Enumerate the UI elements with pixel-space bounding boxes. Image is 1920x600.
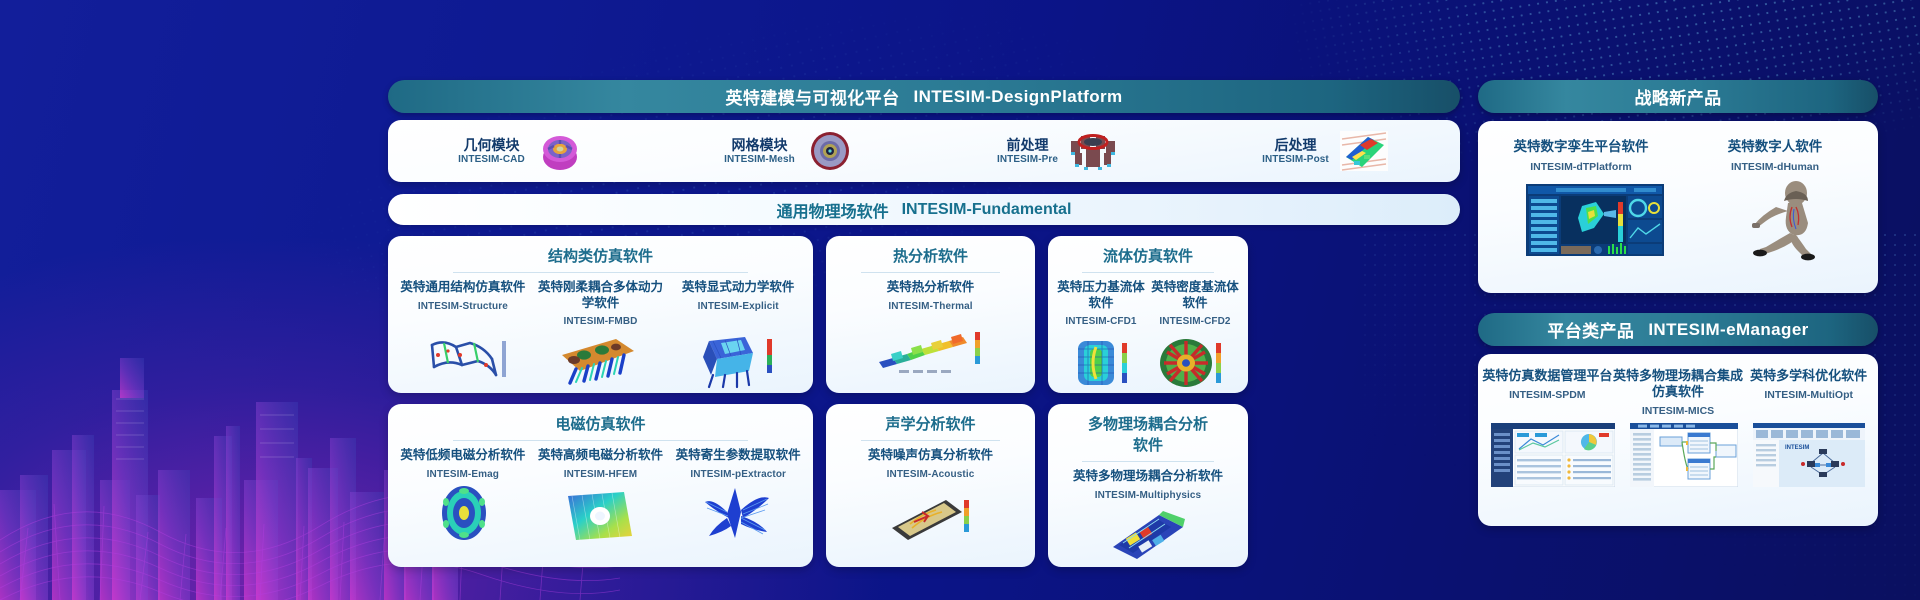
product-acoustic[interactable]: 英特噪声仿真分析软件 INTESIM-Acoustic (834, 448, 1027, 480)
product-cfd1[interactable]: 英特压力基流体软件 INTESIM-CFD1 (1056, 280, 1146, 327)
product-emag[interactable]: 英特低频电磁分析软件 INTESIM-Emag (396, 448, 530, 480)
fundamental-row-1: 结构类仿真软件 英特通用结构仿真软件 INTESIM-Structure 英特刚… (388, 236, 1460, 393)
product-fmbd-cn: 英特刚柔耦合多体动力学软件 (534, 280, 668, 311)
platform-products-card: 英特仿真数据管理平台 INTESIM-SPDM 英特多物理场耦合集成仿真软件 I… (1478, 354, 1878, 526)
fundamental-banner-cn: 通用物理场软件 (777, 198, 889, 222)
module-mesh-en: INTESIM-Mesh (724, 154, 795, 165)
product-cfd1-cn: 英特压力基流体软件 (1056, 280, 1146, 311)
product-multiopt-cn: 英特多学科优化软件 (1743, 368, 1874, 384)
design-platform-banner-cn: 英特建模与可视化平台 (725, 84, 899, 109)
hfem-lens-thumb (562, 490, 638, 542)
module-pre-cn: 前处理 (997, 137, 1058, 155)
product-fmbd[interactable]: 英特刚柔耦合多体动力学软件 INTESIM-FMBD (534, 280, 668, 327)
module-mesh-cn: 网格模块 (724, 137, 795, 155)
module-post[interactable]: 后处理 INTESIM-Post (1192, 127, 1460, 175)
digital-twin-dashboard-thumb (1526, 184, 1664, 256)
svg-text:INTESIM: INTESIM (1785, 445, 1809, 451)
product-fmbd-en: INTESIM-FMBD (534, 316, 668, 327)
poster-canvas: 英特建模与可视化平台 INTESIM-DesignPlatform 几何模块 I… (0, 0, 1920, 600)
strategic-banner[interactable]: 战略新产品 (1478, 80, 1878, 113)
panel-thermal-title: 热分析软件 (861, 245, 1000, 273)
module-pre-en: INTESIM-Pre (997, 154, 1058, 165)
product-acoustic-cn: 英特噪声仿真分析软件 (834, 448, 1027, 464)
panel-fluid-title: 流体仿真软件 (1082, 245, 1214, 273)
postprocess-plate-icon (1338, 127, 1390, 175)
cad-ring-icon (534, 127, 586, 175)
product-thermal-en: INTESIM-Thermal (834, 301, 1027, 312)
fundamental-banner-en: INTESIM-Fundamental (902, 201, 1072, 219)
product-mics-en: INTESIM-MICS (1613, 405, 1744, 417)
digital-human-thumb (1744, 179, 1830, 261)
fundamental-banner[interactable]: 通用物理场软件 INTESIM-Fundamental (388, 194, 1460, 225)
strategic-banner-cn: 战略新产品 (1635, 84, 1722, 109)
design-platform-banner-en: INTESIM-DesignPlatform (913, 87, 1122, 107)
product-emag-cn: 英特低频电磁分析软件 (396, 448, 530, 464)
spdm-ui-thumb (1491, 423, 1615, 487)
product-cfd1-en: INTESIM-CFD1 (1056, 316, 1146, 327)
platform-products-banner-en: INTESIM-eManager (1648, 320, 1808, 340)
panel-structure-title: 结构类仿真软件 (453, 245, 747, 273)
product-multiphysics-en: INTESIM-Multiphysics (1056, 490, 1240, 501)
product-dhuman-en: INTESIM-dHuman (1678, 161, 1872, 173)
cfd1-thumb (1064, 337, 1140, 389)
product-spdm-cn: 英特仿真数据管理平台 (1482, 368, 1613, 384)
panel-fluid[interactable]: 流体仿真软件 英特压力基流体软件 INTESIM-CFD1 英特密度基流体软件 … (1048, 236, 1248, 393)
thermal-fea-thumb (871, 324, 991, 374)
emag-motor-thumb (434, 484, 494, 542)
panel-structure[interactable]: 结构类仿真软件 英特通用结构仿真软件 INTESIM-Structure 英特刚… (388, 236, 813, 393)
module-cad[interactable]: 几何模块 INTESIM-CAD (388, 127, 656, 175)
product-structure-en: INTESIM-Structure (396, 301, 530, 312)
product-structure-cn: 英特通用结构仿真软件 (396, 280, 530, 296)
platform-products-banner[interactable]: 平台类产品 INTESIM-eManager (1478, 313, 1878, 346)
module-cad-cn: 几何模块 (458, 137, 525, 155)
product-pextractor-cn: 英特寄生参数提取软件 (671, 448, 805, 464)
strategic-card: 英特数字孪生平台软件 INTESIM-dTPlatform 英特数字人软件 IN… (1478, 121, 1878, 293)
product-explicit[interactable]: 英特显式动力学软件 INTESIM-Explicit (671, 280, 805, 327)
multiopt-ui-thumb: INTESIM (1753, 423, 1865, 487)
mesh-disc-icon (804, 127, 856, 175)
product-dtplatform-en: INTESIM-dTPlatform (1484, 161, 1678, 173)
acoustic-thumb (888, 494, 974, 542)
panel-acoustic[interactable]: 声学分析软件 英特噪声仿真分析软件 INTESIM-Acoustic (826, 404, 1035, 567)
platform-products-banner-cn: 平台类产品 (1547, 317, 1634, 342)
product-mics[interactable]: 英特多物理场耦合集成仿真软件 INTESIM-MICS (1613, 368, 1744, 417)
preprocess-gear-icon (1067, 127, 1119, 175)
product-explicit-cn: 英特显式动力学软件 (671, 280, 805, 296)
product-pextractor[interactable]: 英特寄生参数提取软件 INTESIM-pExtractor (671, 448, 805, 480)
module-cad-en: INTESIM-CAD (458, 154, 525, 165)
product-mics-cn: 英特多物理场耦合集成仿真软件 (1613, 368, 1744, 400)
panel-emag-title: 电磁仿真软件 (453, 413, 747, 441)
panel-multiphysics[interactable]: 多物理场耦合分析软件 英特多物理场耦合分析软件 INTESIM-Multiphy… (1048, 404, 1248, 567)
product-structure[interactable]: 英特通用结构仿真软件 INTESIM-Structure (396, 280, 530, 327)
cfd2-thumb (1152, 337, 1236, 389)
product-multiopt-en: INTESIM-MultiOpt (1743, 389, 1874, 401)
product-pextractor-en: INTESIM-pExtractor (671, 469, 805, 480)
frame-fea-thumb (418, 333, 510, 389)
panel-thermal[interactable]: 热分析软件 英特热分析软件 INTESIM-Thermal (826, 236, 1035, 393)
product-thermal-cn: 英特热分析软件 (834, 280, 1027, 296)
product-dhuman[interactable]: 英特数字人软件 INTESIM-dHuman (1678, 139, 1872, 173)
panel-multiphysics-title: 多物理场耦合分析软件 (1082, 413, 1214, 462)
product-hfem-en: INTESIM-HFEM (534, 469, 668, 480)
product-hfem-cn: 英特高频电磁分析软件 (534, 448, 668, 464)
product-dtplatform-cn: 英特数字孪生平台软件 (1484, 139, 1678, 156)
design-platform-modules: 几何模块 INTESIM-CAD 网格模块 INTESIM-Mesh (388, 120, 1460, 182)
product-hfem[interactable]: 英特高频电磁分析软件 INTESIM-HFEM (534, 448, 668, 480)
product-multiphysics-cn: 英特多物理场耦合分析软件 (1056, 469, 1240, 485)
module-pre[interactable]: 前处理 INTESIM-Pre (924, 127, 1192, 175)
product-spdm[interactable]: 英特仿真数据管理平台 INTESIM-SPDM (1482, 368, 1613, 417)
multibody-fea-thumb (554, 333, 646, 389)
product-spdm-en: INTESIM-SPDM (1482, 389, 1613, 401)
product-thermal[interactable]: 英特热分析软件 INTESIM-Thermal (834, 280, 1027, 312)
product-multiopt[interactable]: 英特多学科优化软件 INTESIM-MultiOpt (1743, 368, 1874, 417)
product-cfd2[interactable]: 英特密度基流体软件 INTESIM-CFD2 (1150, 280, 1240, 327)
pextractor-thumb (701, 484, 773, 542)
module-mesh[interactable]: 网格模块 INTESIM-Mesh (656, 127, 924, 175)
module-post-en: INTESIM-Post (1262, 154, 1329, 165)
product-dhuman-cn: 英特数字人软件 (1678, 139, 1872, 156)
product-acoustic-en: INTESIM-Acoustic (834, 469, 1027, 480)
fundamental-row-2: 电磁仿真软件 英特低频电磁分析软件 INTESIM-Emag 英特高频电磁分析软… (388, 404, 1460, 567)
right-column: 战略新产品 英特数字孪生平台软件 INTESIM-dTPlatform 英特数字… (1478, 80, 1878, 526)
multiphysics-thumb (1105, 511, 1191, 563)
mics-ui-thumb (1630, 423, 1738, 487)
product-cfd2-cn: 英特密度基流体软件 (1150, 280, 1240, 311)
product-explicit-en: INTESIM-Explicit (671, 301, 805, 312)
panel-acoustic-title: 声学分析软件 (861, 413, 1000, 441)
product-emag-en: INTESIM-Emag (396, 469, 530, 480)
product-cfd2-en: INTESIM-CFD2 (1150, 316, 1240, 327)
module-post-cn: 后处理 (1262, 137, 1329, 155)
product-multiphysics[interactable]: 英特多物理场耦合分析软件 INTESIM-Multiphysics (1056, 469, 1240, 501)
design-platform-banner[interactable]: 英特建模与可视化平台 INTESIM-DesignPlatform (388, 80, 1460, 113)
explicit-fea-thumb (691, 333, 783, 389)
product-dtplatform[interactable]: 英特数字孪生平台软件 INTESIM-dTPlatform (1484, 139, 1678, 173)
left-column: 英特建模与可视化平台 INTESIM-DesignPlatform 几何模块 I… (388, 80, 1460, 567)
panel-emag[interactable]: 电磁仿真软件 英特低频电磁分析软件 INTESIM-Emag 英特高频电磁分析软… (388, 404, 813, 567)
